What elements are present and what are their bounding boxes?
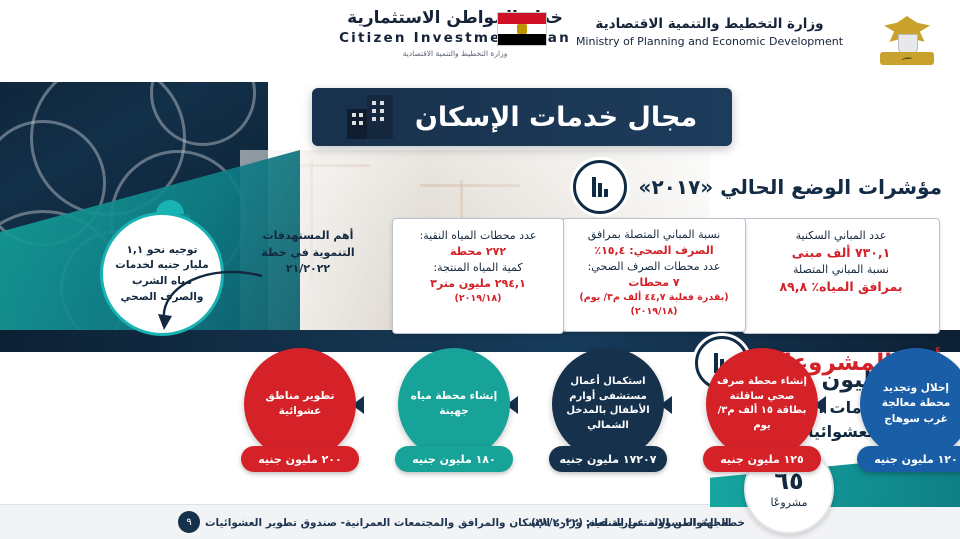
project-label: استكمال أعمال مستشفى أوارم الأطفال بالمد… [561,375,655,433]
project-value: ٢٠٠ مليون جنيه [258,453,341,466]
project-value: ١٢٥ مليون جنيه [720,453,803,466]
project-circle-water-station: إنشاء محطة مياه جهينة [398,348,510,460]
projects-count-number: ٦٥ [774,469,803,493]
card-line: (٢٠١٩/١٨) [400,292,556,306]
page-number-badge: ٩ [178,511,200,533]
card-line: عدد محطات الصرف الصحي: [570,259,738,275]
card-line: ٢٧٢ محطة [400,244,556,260]
section-indicators-heading: مؤشرات الوضع الحالي «٢٠١٧» [573,160,942,214]
projects-count-label: مشروعًا [771,496,808,509]
ministry-title-en: Ministry of Planning and Economic Develo… [567,35,852,49]
infographic-page: خطة المواطن الاستثمارية Citizen Investme… [0,0,960,539]
plan-logo-sub: وزارة التخطيط والتنمية الاقتصادية [330,49,580,58]
indicator-card-water-stations: عدد محطات المياه النقية: ٢٧٢ محطة كمية ا… [392,218,564,334]
project-value-water-station: ١٨٠ مليون جنيه [395,446,513,472]
project-circle-random-areas: تطوير مناطق عشوائية [244,348,356,460]
card-line: بمرافق المياه٪ ٨٩,٨ [751,278,931,296]
card-line: (٢٠١٩/١٨) [570,305,738,319]
project-value: ١٨٠ مليون جنيه [412,453,495,466]
chart-gear-icon [573,160,627,214]
project-label: تطوير مناطق عشوائية [253,389,347,419]
project-value: ١٧٢٠٧ مليون جنيه [560,453,657,466]
card-line: ٧ محطات [570,275,738,291]
ministry-title-ar: وزارة التخطيط والتنمية الاقتصادية [567,16,852,32]
page-title: مجال خدمات الإسكان [312,88,732,146]
project-label: إحلال وتجديد محطة معالجة غرب سوهاج [869,381,960,427]
indicator-card-sanitation: نسبة المباني المتصلة بمرافق الصرف الصحي:… [562,218,746,332]
card-line: ٢٩٤,١ مليون متر٣ [400,276,556,292]
card-line: نسبة المباني المتصلة [751,262,931,278]
card-line: كمية المياه المنتجة: [400,260,556,276]
project-value-random-areas: ٢٠٠ مليون جنيه [241,446,359,472]
card-line: ٧٣٠,١ ألف مبنى [751,244,931,262]
project-circle-atfal-awarem: استكمال أعمال مستشفى أوارم الأطفال بالمد… [552,348,664,460]
footer-right-text: خطة المُواطن الاستثمارية لعام (٢١/٢٠٢٢) [531,517,745,529]
card-line: عدد المباني السكنية [751,228,931,244]
page-header: خطة المواطن الاستثمارية Citizen Investme… [0,0,960,82]
egypt-flag-icon [497,12,547,46]
indicator-card-residential-buildings: عدد المباني السكنية ٧٣٠,١ ألف مبنى نسبة … [742,218,940,334]
emblem-text: مصر [880,52,934,65]
project-circle-sohag-west-plant: إحلال وتجديد محطة معالجة غرب سوهاج [860,348,960,460]
project-value-atfal-awarem: ١٧٢٠٧ مليون جنيه [549,446,667,472]
project-value-sanitation-station: ١٢٥ مليون جنيه [703,446,821,472]
page-title-text: مجال خدمات الإسكان [415,102,697,133]
project-label: إنشاء محطة صرف صحي ساقلتة بطاقة ١٥ ألف م… [715,375,809,433]
curved-arrow-icon [150,268,270,338]
card-line: نسبة المباني المتصلة بمرافق [570,227,738,243]
project-label: إنشاء محطة مياه جهينة [407,389,501,419]
section-indicators-title: مؤشرات الوضع الحالي «٢٠١٧» [639,175,942,199]
eagle-emblem-icon: مصر [876,12,938,70]
project-circle-sanitation-station: إنشاء محطة صرف صحي ساقلتة بطاقة ١٥ ألف م… [706,348,818,460]
card-line: عدد محطات المياه النقية: [400,228,556,244]
card-line: الصرف الصحي: ١٥,٤٪ [570,243,738,259]
project-value-sohag-west-plant: ١٢٠ مليون جنيه [857,446,960,472]
targets-note-label: أهم المستهدفات التنموية في خطة ٢١/٢٠٢٢ [260,228,356,278]
ministry-title: وزارة التخطيط والتنمية الاقتصادية Minist… [567,16,852,49]
project-value: ١٢٠ مليون جنيه [874,453,957,466]
building-icon [347,95,401,139]
card-line: (بقدرة فعلية ٤٤,٧ ألف م٣/ يوم) [570,291,738,305]
